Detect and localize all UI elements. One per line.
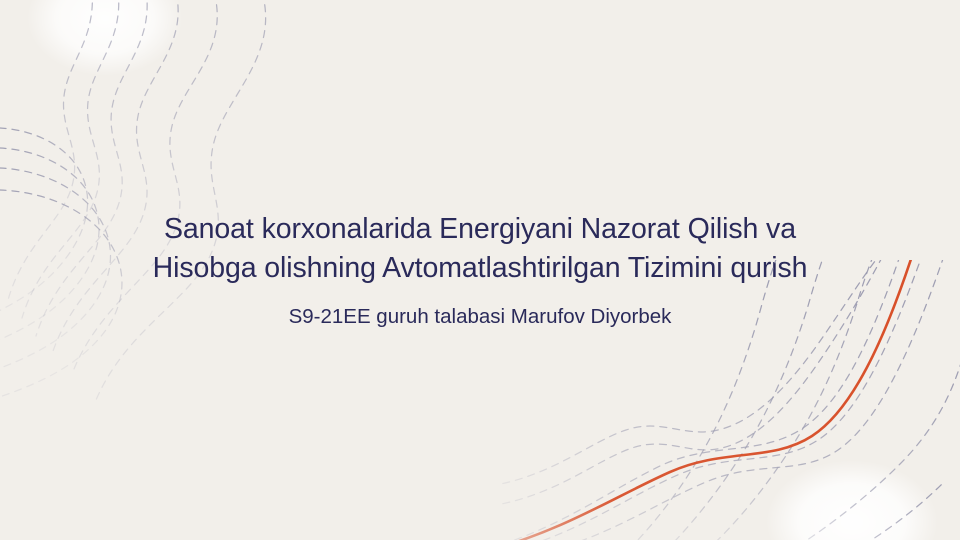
slide-content: Sanoat korxonalarida Energiyani Nazorat … xyxy=(0,0,960,540)
page-title: Sanoat korxonalarida Energiyani Nazorat … xyxy=(80,210,880,330)
title-line-2: Hisobga olishning Avtomatlashtirilgan Ti… xyxy=(80,249,880,288)
title-slide: Sanoat korxonalarida Energiyani Nazorat … xyxy=(0,0,960,540)
slide-subtitle: S9-21EE guruh talabasi Marufov Diyorbek xyxy=(80,304,880,330)
title-line-1: Sanoat korxonalarida Energiyani Nazorat … xyxy=(80,210,880,249)
